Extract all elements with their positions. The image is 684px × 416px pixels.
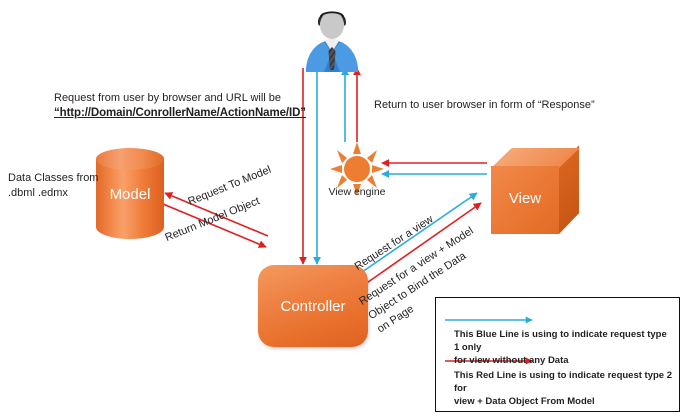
mvc-diagram-canvas: Model View Controller: [0, 0, 684, 416]
data-classes-text: Data Classes from .dbml .edmx: [8, 171, 100, 202]
legend-box: This Blue Line is using to indicate requ…: [435, 297, 680, 412]
view-label: View: [491, 190, 559, 207]
view-engine-label: View engine: [326, 186, 388, 198]
model-cylinder: Model: [96, 148, 164, 248]
controller-box: Controller: [258, 265, 368, 347]
request-from-user-text: Request from user by browser and URL wil…: [54, 91, 284, 106]
return-to-user-text: Return to user browser in form of “Respo…: [374, 98, 674, 113]
legend-red-text: This Red Line is using to indicate reque…: [454, 370, 672, 408]
controller-label: Controller: [280, 298, 345, 315]
model-label: Model: [96, 186, 164, 203]
request-url-text: “http://Domain/ConrollerName/ActionName/…: [54, 107, 294, 119]
view-engine-icon: View engine: [326, 142, 388, 200]
cylinder-top: [96, 148, 164, 170]
user-avatar: [294, 0, 370, 72]
view-cube: View: [491, 148, 579, 234]
legend-blue-text: This Blue Line is using to indicate requ…: [454, 329, 672, 367]
